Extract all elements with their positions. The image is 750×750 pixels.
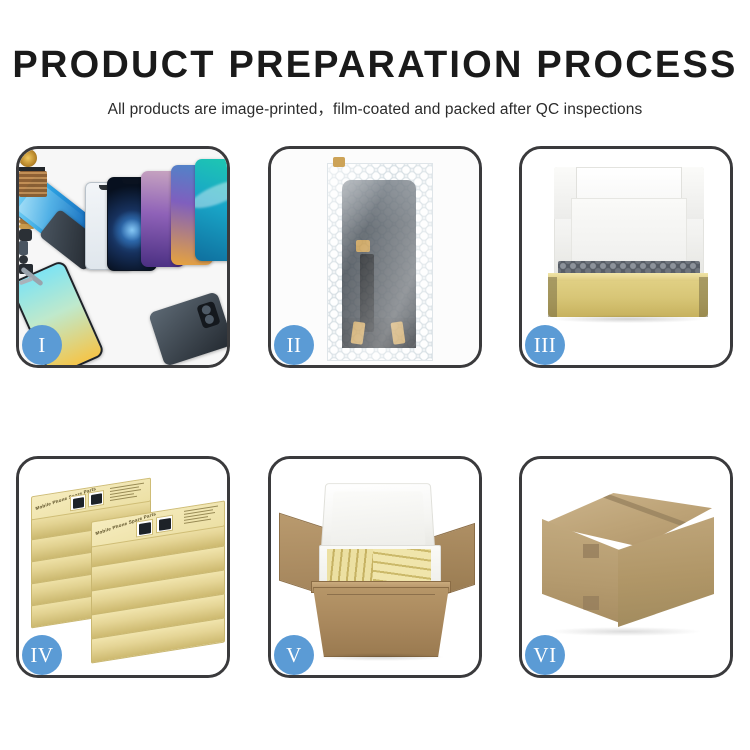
kraft-box-base-icon [548,273,708,317]
box-corner-left-icon [548,277,557,317]
carton-seam-icon [327,594,434,595]
box-stack-icon: Mobile Phone Spare Parts Mobile Phone Sp… [25,479,227,659]
box-corner-right-icon [699,277,708,317]
lcd-screen-icon [342,180,416,348]
drop-shadow [319,653,443,661]
carton-front-icon [313,587,449,657]
seal-tape-icon [333,157,345,167]
product-preparation-infographic: PRODUCT PREPARATION PROCESS All products… [0,0,750,750]
step-badge-3: III [525,325,565,365]
chip-grid-part-icon [19,171,47,197]
tape-tab-icon [356,240,370,252]
drop-shadow [550,627,700,636]
step-badge-6: VI [525,635,565,675]
drop-shadow [552,315,704,323]
box-window-icon [70,494,86,512]
phone-back-shell-icon [148,291,227,365]
step-badge-1: I [22,325,62,365]
wave-highlight-icon [195,174,227,213]
box-print-lines-icon [184,505,218,527]
step-badge-2: II [274,325,314,365]
box-window-icon [156,515,173,534]
box-lip-icon [548,273,708,281]
teal-phone-icon [195,159,227,261]
step-badge-5: V [274,635,314,675]
button-part-icon [19,255,28,264]
camera-module-icon [196,301,221,329]
step-badge-4: IV [22,635,62,675]
foam-lid-icon [321,483,436,554]
box-window-icon [136,519,153,538]
carton-tab-icon [583,544,599,558]
small-camera-part-icon [19,229,32,241]
carton-tab-icon [583,596,599,610]
sim-tray-part-icon [19,241,28,255]
notch-icon [122,179,142,184]
carton-tape-icon [575,483,689,528]
coil-part-icon [19,149,37,167]
box-print-lines-icon [110,483,144,505]
foam-lid-inner-icon [330,491,425,546]
box-window-icon [88,490,104,508]
bubble-wrap-pouch-icon [327,163,433,361]
process-steps-grid: Mobile Phone Spare Parts Mobile Phone Sp… [0,0,750,750]
flex-strip-icon [360,254,374,332]
